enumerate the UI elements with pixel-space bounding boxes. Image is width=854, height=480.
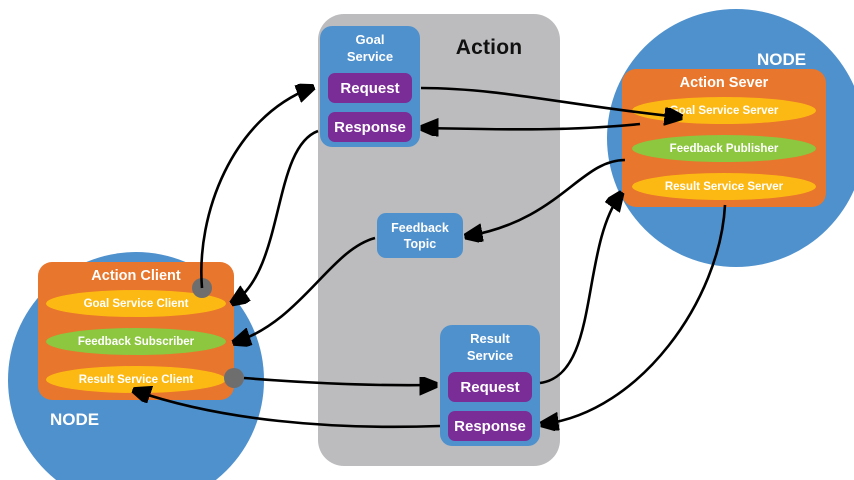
action-diagram-canvas: Action NODE Action Client Goal Service C… xyxy=(0,0,854,480)
feedback-topic-label: Feedback Topic xyxy=(391,220,449,252)
feedback-subscriber-pill[interactable]: Feedback Subscriber xyxy=(46,328,226,355)
goal-service-server-pill[interactable]: Goal Service Server xyxy=(632,97,816,124)
feedback-topic-line1: Feedback xyxy=(391,221,449,235)
server-node-label: NODE xyxy=(757,50,806,70)
result-service-server-pill[interactable]: Result Service Server xyxy=(632,173,816,200)
result-service-response-chip[interactable]: Response xyxy=(448,411,532,441)
goal-service-request-chip[interactable]: Request xyxy=(328,73,412,103)
result-service-client-connector-dot-icon xyxy=(224,368,244,388)
feedback-topic-line2: Topic xyxy=(404,237,436,251)
client-node-label: NODE xyxy=(50,410,99,430)
action-container-label: Action xyxy=(430,36,548,60)
result-service-box: Result Service Request Response xyxy=(440,325,540,446)
result-service-client-pill[interactable]: Result Service Client xyxy=(46,366,226,393)
goal-service-response-chip[interactable]: Response xyxy=(328,112,412,142)
action-server-box: Action Sever Goal Service Server Feedbac… xyxy=(622,69,826,207)
result-service-request-chip[interactable]: Request xyxy=(448,372,532,402)
goal-service-title-line1: Goal xyxy=(356,32,385,47)
feedback-topic-box[interactable]: Feedback Topic xyxy=(377,213,463,258)
result-service-title-line2: Service xyxy=(467,348,513,363)
result-service-title: Result Service xyxy=(440,330,540,364)
arrow-goal-client-to-goal-request xyxy=(201,88,311,288)
feedback-publisher-pill[interactable]: Feedback Publisher xyxy=(632,135,816,162)
goal-service-box: Goal Service Request Response xyxy=(320,26,420,147)
result-service-title-line1: Result xyxy=(470,331,510,346)
arrow-goal-response-to-goal-client xyxy=(234,131,318,302)
goal-service-title: Goal Service xyxy=(320,31,420,65)
goal-service-client-connector-dot-icon xyxy=(192,278,212,298)
action-server-title: Action Sever xyxy=(622,75,826,91)
goal-service-title-line2: Service xyxy=(347,49,393,64)
